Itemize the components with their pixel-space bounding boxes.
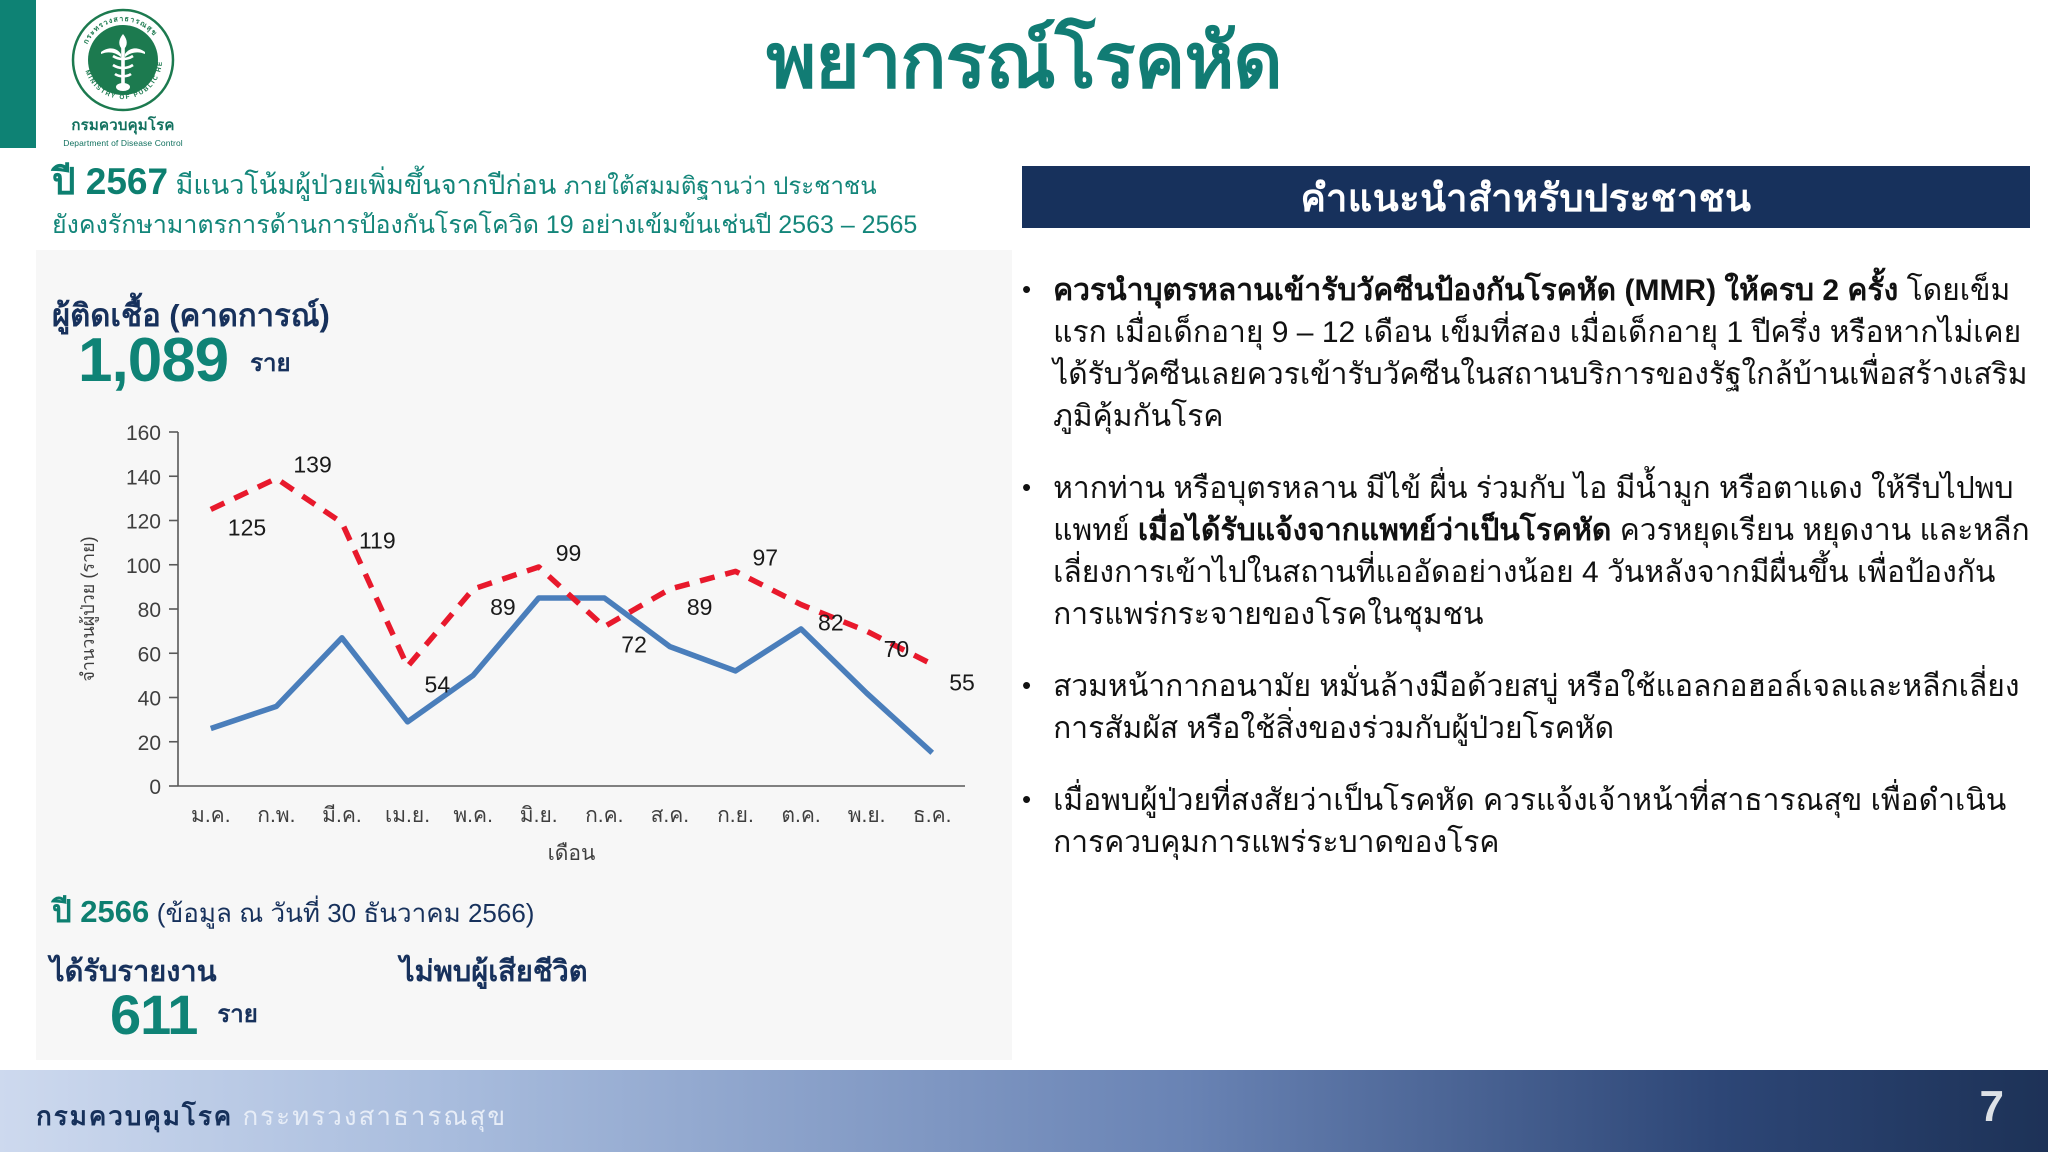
footer-text: กรมควบคุมโรค กระทรวงสาธารณสุข	[36, 1096, 507, 1137]
kpi-value: 1,089	[78, 332, 228, 391]
svg-text:99: 99	[556, 540, 582, 566]
svg-text:89: 89	[490, 594, 516, 620]
recommendations-banner: คำแนะนำสำหรับประชาชน	[1022, 166, 2030, 228]
svg-text:0: 0	[149, 776, 161, 799]
list-item: • หากท่าน หรือบุตรหลาน มีไข้ ผื่น ร่วมกั…	[1022, 468, 2032, 636]
svg-text:40: 40	[138, 688, 161, 711]
svg-text:139: 139	[293, 451, 331, 477]
footer-bar: กรมควบคุมโรค กระทรวงสาธารณสุข 7	[0, 1070, 2048, 1152]
svg-text:ก.พ.: ก.พ.	[257, 804, 295, 827]
bullet-marker-icon: •	[1022, 666, 1031, 750]
svg-text:ก.ย.: ก.ย.	[717, 804, 754, 827]
svg-text:55: 55	[949, 669, 975, 695]
subtitle-year: ปี 2567	[52, 161, 168, 202]
recommendation-text-3: สวมหน้ากากอนามัย หมั่นล้างมือด้วยสบู่ หร…	[1053, 666, 2032, 750]
kpi-value-row: 1,089 ราย	[78, 332, 291, 391]
subtitle-main-text: มีแนวโน้มผู้ป่วยเพิ่มขึ้นจากปีก่อน	[176, 170, 557, 200]
svg-text:พ.ย.: พ.ย.	[848, 804, 886, 827]
recommendations-banner-title: คำแนะนำสำหรับประชาชน	[1301, 167, 1752, 228]
svg-text:80: 80	[138, 599, 161, 622]
svg-text:120: 120	[126, 511, 161, 534]
year-2566-heading: ปี 2566 (ข้อมูล ณ วันที่ 30 ธันวาคม 2566…	[52, 886, 534, 936]
page-title: พยากรณ์โรคหัด	[0, 22, 2048, 102]
logo-english-name: Department of Disease Control	[48, 138, 198, 148]
svg-text:70: 70	[884, 636, 910, 662]
svg-text:ธ.ค.: ธ.ค.	[913, 804, 952, 827]
svg-text:119: 119	[359, 528, 396, 554]
list-item: • เมื่อพบผู้ป่วยที่สงสัยว่าเป็นโรคหัด คว…	[1022, 780, 2032, 864]
svg-text:54: 54	[425, 672, 451, 698]
svg-text:125: 125	[228, 514, 266, 540]
footer-ministry: กระทรวงสาธารณสุข	[242, 1101, 507, 1131]
svg-text:ก.ค.: ก.ค.	[585, 804, 623, 827]
svg-text:82: 82	[818, 610, 844, 636]
svg-text:ม.ค.: ม.ค.	[191, 804, 231, 827]
footer-department: กรมควบคุมโรค	[36, 1101, 233, 1131]
svg-text:97: 97	[752, 544, 778, 570]
svg-text:20: 20	[138, 732, 161, 755]
recommendation-1-bold: ควรนำบุตรหลานเข้ารับวัคซีนป้องกันโรคหัด …	[1053, 274, 1898, 307]
recommendation-text-2: หากท่าน หรือบุตรหลาน มีไข้ ผื่น ร่วมกับ …	[1053, 468, 2032, 636]
svg-text:140: 140	[126, 466, 161, 489]
list-item: • ควรนำบุตรหลานเข้ารับวัคซีนป้องกันโรคหั…	[1022, 270, 2032, 438]
svg-text:มิ.ย.: มิ.ย.	[520, 804, 558, 827]
subtitle-line-2: ยังคงรักษามาตรการด้านการป้องกันโรคโควิด …	[52, 209, 1012, 242]
recommendation-text-1: ควรนำบุตรหลานเข้ารับวัคซีนป้องกันโรคหัด …	[1053, 270, 2032, 438]
svg-text:พ.ค.: พ.ค.	[453, 804, 493, 827]
reported-value-row: 611 ราย	[110, 988, 258, 1041]
page-number: 7	[1980, 1082, 2004, 1132]
svg-text:เดือน: เดือน	[548, 842, 596, 864]
svg-text:จำนวนผู้ป่วย (ราย): จำนวนผู้ป่วย (ราย)	[78, 536, 99, 681]
bullet-marker-icon: •	[1022, 780, 1031, 864]
recommendation-2-bold: เมื่อได้รับแจ้งจากแพทย์ว่าเป็นโรคหัด	[1138, 514, 1611, 547]
svg-text:มี.ค.: มี.ค.	[322, 804, 362, 827]
subtitle-light-text: ภายใต้สมมติฐานว่า ประชาชน	[564, 173, 877, 200]
list-item: • สวมหน้ากากอนามัย หมั่นล้างมือด้วยสบู่ …	[1022, 666, 2032, 750]
svg-text:72: 72	[621, 632, 647, 658]
svg-text:เม.ย.: เม.ย.	[385, 804, 430, 827]
svg-text:100: 100	[126, 555, 161, 578]
svg-text:ส.ค.: ส.ค.	[651, 804, 690, 827]
measles-line-chart: 020406080100120140160ม.ค.ก.พ.มี.ค.เม.ย.พ…	[60, 414, 990, 864]
bullet-marker-icon: •	[1022, 270, 1031, 438]
bullet-marker-icon: •	[1022, 468, 1031, 636]
logo-thai-name: กรมควบคุมโรค	[48, 113, 198, 137]
year-2566-label: ปี 2566	[52, 894, 149, 929]
reported-value: 611	[110, 988, 197, 1041]
svg-text:ต.ค.: ต.ค.	[781, 804, 820, 827]
svg-text:160: 160	[126, 422, 161, 445]
svg-text:60: 60	[138, 643, 161, 666]
recommendation-text-4: เมื่อพบผู้ป่วยที่สงสัยว่าเป็นโรคหัด ควรแ…	[1053, 780, 2032, 864]
svg-text:89: 89	[687, 594, 713, 620]
subtitle-line-1: ปี 2567 มีแนวโน้มผู้ป่วยเพิ่มขึ้นจากปีก่…	[52, 158, 1012, 207]
no-death-label: ไม่พบผู้เสียชีวิต	[400, 948, 588, 994]
subtitle-block: ปี 2567 มีแนวโน้มผู้ป่วยเพิ่มขึ้นจากปีก่…	[52, 158, 1012, 242]
year-2566-note: (ข้อมูล ณ วันที่ 30 ธันวาคม 2566)	[157, 898, 535, 928]
recommendations-list: • ควรนำบุตรหลานเข้ารับวัคซีนป้องกันโรคหั…	[1022, 270, 2032, 894]
kpi-unit: ราย	[250, 343, 290, 391]
reported-unit: ราย	[217, 994, 257, 1041]
slide-root: กระทรวงสาธารณสุข MINISTRY OF PUBLIC HEAL…	[0, 0, 2048, 1152]
